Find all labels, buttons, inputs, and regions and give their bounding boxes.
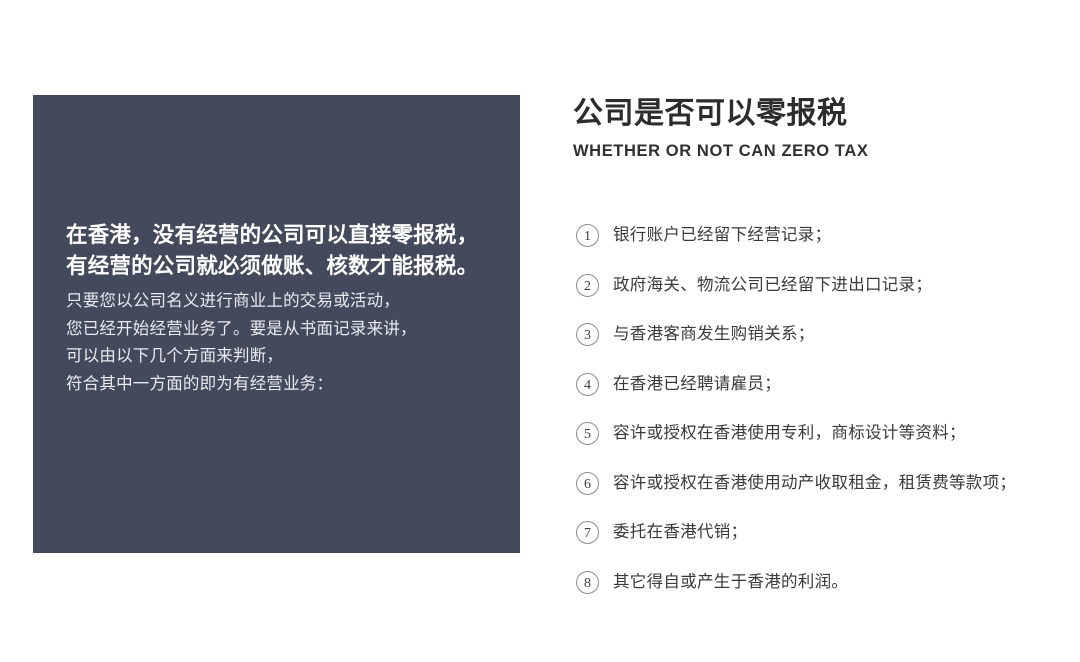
info-panel-body: 只要您以公司名义进行商业上的交易或活动， 您已经开始经营业务了。要是从书面记录来… bbox=[66, 288, 491, 398]
info-panel-body-line-3: 可以由以下几个方面来判断， bbox=[66, 343, 491, 371]
list-item: 4 在香港已经聘请雇员； bbox=[576, 360, 1076, 410]
list-item: 5 容许或授权在香港使用专利，商标设计等资料； bbox=[576, 409, 1076, 459]
list-item-label: 其它得自或产生于香港的利润。 bbox=[613, 571, 848, 594]
info-panel-heading: 在香港，没有经营的公司可以直接零报税，有经营的公司就必须做账、核数才能报税。 bbox=[66, 220, 491, 282]
circled-number-icon: 1 bbox=[576, 224, 599, 247]
circled-number-icon: 4 bbox=[576, 373, 599, 396]
circled-number-icon: 3 bbox=[576, 323, 599, 346]
info-panel-content: 在香港，没有经营的公司可以直接零报税，有经营的公司就必须做账、核数才能报税。 只… bbox=[66, 220, 491, 398]
page-root: 在香港，没有经营的公司可以直接零报税，有经营的公司就必须做账、核数才能报税。 只… bbox=[0, 0, 1080, 662]
page-title: 公司是否可以零报税 bbox=[573, 95, 1063, 133]
list-item: 7 委托在香港代销； bbox=[576, 508, 1076, 558]
circled-number-icon: 7 bbox=[576, 521, 599, 544]
list-item-label: 与香港客商发生购销关系； bbox=[613, 323, 815, 346]
list-item-label: 委托在香港代销； bbox=[613, 521, 747, 544]
circled-number-icon: 8 bbox=[576, 571, 599, 594]
info-panel-body-line-1: 只要您以公司名义进行商业上的交易或活动， bbox=[66, 288, 491, 316]
info-panel: 在香港，没有经营的公司可以直接零报税，有经营的公司就必须做账、核数才能报税。 只… bbox=[33, 95, 520, 553]
info-panel-body-line-4: 符合其中一方面的即为有经营业务： bbox=[66, 371, 491, 399]
list-item-label: 容许或授权在香港使用动产收取租金，租赁费等款项； bbox=[613, 472, 1016, 495]
header-block: 公司是否可以零报税 WHETHER OR NOT CAN ZERO TAX bbox=[573, 95, 1063, 161]
list-item: 3 与香港客商发生购销关系； bbox=[576, 310, 1076, 360]
circled-number-icon: 5 bbox=[576, 422, 599, 445]
circled-number-icon: 6 bbox=[576, 472, 599, 495]
page-subtitle: WHETHER OR NOT CAN ZERO TAX bbox=[573, 142, 1063, 161]
list-item: 2 政府海关、物流公司已经留下进出口记录； bbox=[576, 261, 1076, 311]
list-item: 8 其它得自或产生于香港的利润。 bbox=[576, 558, 1076, 608]
list-item-label: 在香港已经聘请雇员； bbox=[613, 373, 781, 396]
list-item-label: 银行账户已经留下经营记录； bbox=[613, 224, 831, 247]
list-item: 1 银行账户已经留下经营记录； bbox=[576, 211, 1076, 261]
list-item: 6 容许或授权在香港使用动产收取租金，租赁费等款项； bbox=[576, 459, 1076, 509]
info-panel-body-line-2: 您已经开始经营业务了。要是从书面记录来讲， bbox=[66, 316, 491, 344]
criteria-list: 1 银行账户已经留下经营记录； 2 政府海关、物流公司已经留下进出口记录； 3 … bbox=[576, 211, 1076, 607]
circled-number-icon: 2 bbox=[576, 274, 599, 297]
list-item-label: 政府海关、物流公司已经留下进出口记录； bbox=[613, 274, 932, 297]
list-item-label: 容许或授权在香港使用专利，商标设计等资料； bbox=[613, 422, 966, 445]
